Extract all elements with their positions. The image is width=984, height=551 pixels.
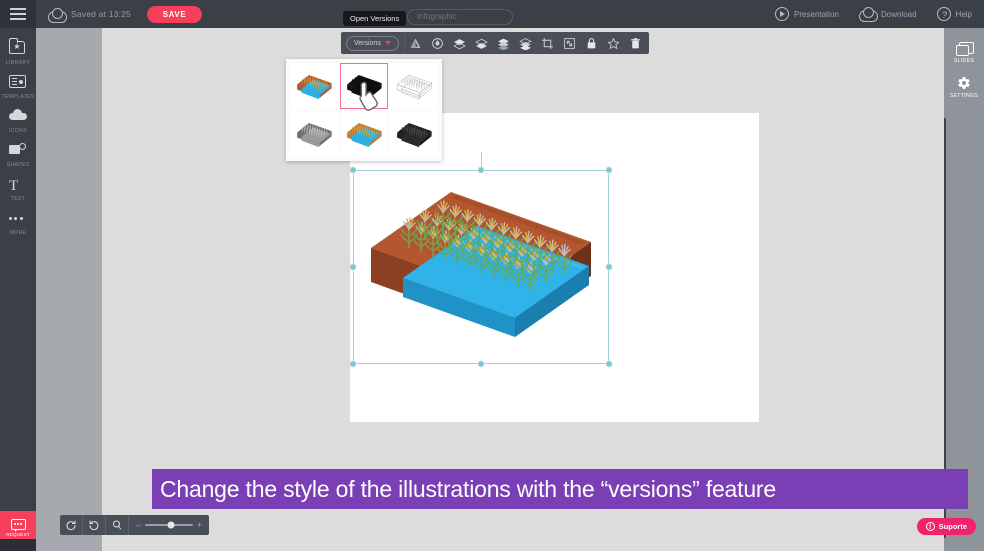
text-t-icon: T (9, 177, 27, 193)
version-dark (392, 117, 436, 151)
undo-icon[interactable] (83, 515, 105, 535)
help-button[interactable]: ? Help (937, 7, 972, 21)
document-name-input[interactable] (407, 9, 513, 25)
left-sidebar: ★ LIBRARY TEMPLATES ICONS SHAPES T TEXT … (0, 28, 36, 551)
download-button[interactable]: Download (859, 7, 917, 21)
top-bar: Saved at 13:25 SAVE Presentation Downloa… (0, 0, 984, 28)
sidebar-label-shapes: SHAPES (7, 162, 30, 168)
presentation-button[interactable]: Presentation (775, 7, 839, 21)
handle-middle-left[interactable] (350, 264, 357, 271)
help-label: Help (956, 10, 972, 19)
save-button[interactable]: SAVE (147, 6, 202, 23)
versions-tooltip: Open Versions (343, 11, 406, 26)
saved-status-group: Saved at 13:25 (48, 8, 131, 21)
taskbar-strip (0, 539, 36, 551)
top-right-actions: Presentation Download ? Help (775, 0, 972, 28)
redo-icon[interactable] (60, 515, 82, 535)
version-thumbnail-4[interactable] (340, 111, 388, 157)
document-name-wrap (407, 6, 513, 25)
cloud-filled-icon (9, 109, 27, 125)
handle-bottom-center[interactable] (478, 361, 485, 368)
chevron-down-icon (385, 41, 391, 45)
folder-star-icon: ★ (9, 41, 27, 57)
handle-bottom-left[interactable] (350, 361, 357, 368)
sidebar-label-library: LIBRARY (6, 60, 30, 66)
handle-top-center[interactable] (478, 167, 485, 174)
ellipsis-icon (9, 211, 27, 227)
zoom-out-label[interactable]: – (136, 521, 141, 530)
version-thumbnail-0[interactable] (290, 63, 338, 109)
version-grayscale (292, 117, 336, 151)
star-icon[interactable] (603, 32, 625, 54)
slides-icon (956, 42, 972, 55)
layer-backward-icon[interactable] (515, 32, 537, 54)
selection-box[interactable] (353, 170, 609, 364)
support-shield-icon: ! (926, 522, 935, 531)
object-toolbar: Versions (341, 32, 649, 54)
sidebar-label-slides: SLIDES (954, 58, 974, 64)
version-thumbnail-2[interactable] (390, 63, 438, 109)
zoom-slider-group[interactable]: – + (129, 521, 209, 530)
layer-back-icon[interactable] (471, 32, 493, 54)
crop-icon[interactable] (537, 32, 559, 54)
zoom-search-icon[interactable] (106, 515, 128, 535)
sidebar-item-icons[interactable]: ICONS (0, 104, 36, 138)
handle-top-right[interactable] (606, 167, 613, 174)
presentation-label: Presentation (794, 10, 839, 19)
version-color-brown (292, 69, 336, 103)
chat-bubble-icon (11, 519, 26, 530)
sidebar-label-icons: ICONS (9, 128, 27, 134)
pointer-hand-icon (347, 80, 391, 114)
cloud-download-icon (859, 7, 876, 21)
version-thumbnail-1[interactable] (340, 63, 388, 109)
rice-paddy-field-illustration[interactable] (351, 174, 613, 364)
layer-forward-icon[interactable] (493, 32, 515, 54)
sidebar-item-more[interactable]: MORE (0, 206, 36, 240)
version-outline (392, 69, 436, 103)
sidebar-label-text: TEXT (11, 196, 25, 202)
trash-icon[interactable] (625, 32, 647, 54)
download-label: Download (881, 10, 917, 19)
hamburger-icon[interactable] (0, 0, 36, 28)
bottom-toolbar: – + (60, 515, 209, 535)
sidebar-label-templates: TEMPLATES (1, 94, 34, 100)
request-line-1: REQUEST (6, 532, 30, 538)
sidebar-label-settings: SETTINGS (950, 93, 978, 99)
caption-banner: Change the style of the illustrations wi… (152, 469, 968, 509)
help-circle-icon: ? (937, 7, 951, 21)
caption-text: Change the style of the illustrations wi… (160, 476, 776, 503)
saved-status-text: Saved at 13:25 (71, 9, 131, 19)
template-icon (9, 75, 27, 91)
cloud-icon (48, 8, 65, 21)
version-thumbnail-3[interactable] (290, 111, 338, 157)
layer-front-icon[interactable] (449, 32, 471, 54)
zoom-slider-knob[interactable] (168, 522, 175, 529)
resize-icon[interactable] (559, 32, 581, 54)
sidebar-item-slides[interactable]: SLIDES (954, 36, 974, 70)
sidebar-item-text[interactable]: T TEXT (0, 172, 36, 206)
versions-label: Versions (354, 40, 381, 47)
sidebar-label-more: MORE (10, 230, 27, 236)
color-fill-icon[interactable] (405, 32, 427, 54)
app-root: ★ LIBRARY TEMPLATES ICONS SHAPES T TEXT … (0, 0, 984, 551)
version-color-alt (342, 117, 386, 151)
zoom-in-label[interactable]: + (197, 521, 202, 530)
sidebar-item-templates[interactable]: TEMPLATES (0, 70, 36, 104)
support-label: Suporte (939, 522, 967, 531)
versions-panel[interactable] (286, 59, 442, 161)
lock-icon[interactable] (581, 32, 603, 54)
versions-dropdown-button[interactable]: Versions (346, 36, 399, 51)
gear-icon (957, 76, 971, 90)
sidebar-item-shapes[interactable]: SHAPES (0, 138, 36, 172)
handle-middle-right[interactable] (606, 264, 613, 271)
handle-top-left[interactable] (350, 167, 357, 174)
sidebar-item-library[interactable]: ★ LIBRARY (0, 36, 36, 70)
shapes-icon (9, 143, 27, 159)
sidebar-item-settings[interactable]: SETTINGS (950, 70, 978, 105)
handle-bottom-right[interactable] (606, 361, 613, 368)
opacity-drop-icon[interactable] (427, 32, 449, 54)
version-thumbnail-5[interactable] (390, 111, 438, 157)
play-circle-icon (775, 7, 789, 21)
support-button[interactable]: ! Suporte (917, 518, 976, 535)
zoom-slider-track[interactable] (145, 524, 193, 526)
